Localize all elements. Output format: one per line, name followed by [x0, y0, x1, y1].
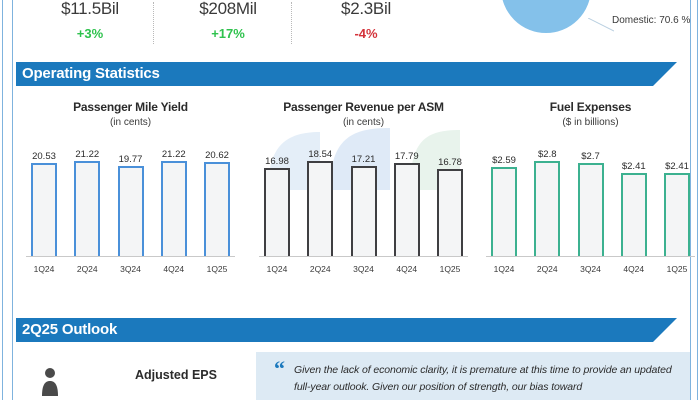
bar-rect	[394, 163, 420, 257]
bar-rect	[161, 161, 187, 257]
bar-series: 16.9818.5417.2117.7916.78	[259, 149, 468, 257]
chart-header: Fuel Expenses ($ in billions)	[478, 100, 700, 129]
banner-arrow	[653, 62, 677, 86]
bar-value-label: 20.62	[205, 150, 229, 161]
kpi-value: $208Mil	[153, 0, 303, 18]
outlook-quote-box: “ Given the lack of economic clarity, it…	[256, 352, 690, 400]
x-tick-label: 4Q24	[616, 264, 652, 274]
charts-row: Passenger Mile Yield (in cents) 20.5321.…	[13, 100, 690, 305]
x-tick-label: 1Q24	[259, 264, 295, 274]
domestic-pie-chart	[500, 0, 600, 34]
x-tick-label: 3Q24	[113, 264, 149, 274]
kpi-strip: $11.5Bil +3% $208Mil +17% $2.3Bil -4%	[13, 0, 483, 48]
bar-value-label: 17.21	[352, 154, 376, 165]
bar-value-label: 21.22	[162, 149, 186, 160]
bar-column: $2.41	[659, 149, 695, 257]
kpi-delta: +17%	[153, 24, 303, 44]
bar-rect	[264, 168, 290, 257]
bar-rect	[491, 167, 517, 257]
bar-value-label: $2.59	[492, 155, 516, 166]
quote-mark-icon: “	[274, 360, 285, 378]
bar-series: 20.5321.2219.7721.2220.62	[26, 149, 235, 257]
kpi-revenue: $11.5Bil +3%	[15, 0, 165, 44]
kpi-income: $208Mil +17%	[153, 0, 303, 44]
chart-subtitle: (in cents)	[18, 116, 243, 129]
bar-value-label: 18.54	[308, 149, 332, 160]
bar-column: 18.54	[302, 149, 338, 257]
bar-column: $2.41	[616, 149, 652, 257]
kpi-delta: +3%	[15, 24, 165, 44]
x-tick-label: 2Q24	[529, 264, 565, 274]
chart-axis-line	[486, 256, 695, 257]
chart-plot-area: 16.9818.5417.2117.7916.78 1Q242Q243Q244Q…	[251, 142, 476, 282]
chart-title: Passenger Mile Yield	[18, 100, 243, 114]
banner-title: Operating Statistics	[22, 62, 160, 86]
bar-column: 16.98	[259, 149, 295, 257]
bar-column: $2.7	[573, 149, 609, 257]
x-tick-label: 1Q24	[26, 264, 62, 274]
bar-rect	[621, 173, 647, 257]
bar-rect	[534, 161, 560, 257]
chart-fuel-expenses: Fuel Expenses ($ in billions) $2.59$2.8$…	[478, 100, 700, 305]
outlook-quote-text: Given the lack of economic clarity, it i…	[294, 362, 674, 396]
bar-column: 16.78	[432, 149, 468, 257]
bar-column: 20.62	[199, 149, 235, 257]
bar-rect	[664, 173, 690, 257]
chart-axis-line	[259, 256, 468, 257]
bar-rect	[437, 169, 463, 257]
kpi-delta: -4%	[291, 24, 441, 44]
page-border-left	[2, 0, 3, 400]
bar-value-label: 19.77	[119, 154, 143, 165]
banner-tick	[13, 62, 16, 86]
bar-series: $2.59$2.8$2.7$2.41$2.41	[486, 149, 695, 257]
chart-plot-area: 20.5321.2219.7721.2220.62 1Q242Q243Q244Q…	[18, 142, 243, 282]
infographic-page: $11.5Bil +3% $208Mil +17% $2.3Bil -4% Do…	[0, 0, 700, 400]
x-tick-label: 2Q24	[69, 264, 105, 274]
x-tick-label: 4Q24	[389, 264, 425, 274]
chart-x-tick-labels: 1Q242Q243Q244Q241Q25	[259, 264, 468, 274]
bar-column: 20.53	[26, 149, 62, 257]
bar-rect	[578, 163, 604, 257]
bar-rect	[204, 162, 230, 257]
x-tick-label: 1Q25	[659, 264, 695, 274]
bar-value-label: 20.53	[32, 151, 56, 162]
banner-arrow	[653, 318, 677, 342]
x-tick-label: 4Q24	[156, 264, 192, 274]
adjusted-eps-label: Adjusted EPS	[91, 368, 261, 382]
chart-plot-area: $2.59$2.8$2.7$2.41$2.41 1Q242Q243Q244Q24…	[478, 142, 700, 282]
bar-column: 17.79	[389, 149, 425, 257]
bar-rect	[74, 161, 100, 257]
bar-value-label: $2.8	[538, 149, 557, 160]
bar-rect	[31, 163, 57, 257]
chart-subtitle: (in cents)	[251, 116, 476, 129]
x-tick-label: 3Q24	[346, 264, 382, 274]
bar-value-label: 21.22	[75, 149, 99, 160]
chart-passenger-revenue-per-asm: Passenger Revenue per ASM (in cents) 16.…	[251, 100, 476, 305]
x-tick-label: 2Q24	[302, 264, 338, 274]
chart-subtitle: ($ in billions)	[478, 116, 700, 129]
x-tick-label: 1Q24	[486, 264, 522, 274]
pie-label-domestic: Domestic: 70.6 %	[612, 15, 690, 26]
bar-rect	[351, 166, 377, 257]
bar-value-label: $2.41	[665, 161, 689, 172]
chart-header: Passenger Revenue per ASM (in cents)	[251, 100, 476, 129]
bar-column: $2.59	[486, 149, 522, 257]
bar-column: 21.22	[156, 149, 192, 257]
bar-value-label: $2.7	[581, 151, 600, 162]
bar-value-label: 16.78	[438, 157, 462, 168]
chart-passenger-mile-yield: Passenger Mile Yield (in cents) 20.5321.…	[18, 100, 243, 305]
chart-title: Passenger Revenue per ASM	[251, 100, 476, 114]
bar-column: $2.8	[529, 149, 565, 257]
x-tick-label: 1Q25	[432, 264, 468, 274]
kpi-value: $11.5Bil	[15, 0, 165, 18]
chart-x-tick-labels: 1Q242Q243Q244Q241Q25	[26, 264, 235, 274]
chart-title: Fuel Expenses	[478, 100, 700, 114]
person-icon	[39, 366, 61, 396]
kpi-capex: $2.3Bil -4%	[291, 0, 441, 44]
bar-rect	[307, 161, 333, 257]
pie-leader-line	[588, 18, 614, 32]
chart-header: Passenger Mile Yield (in cents)	[18, 100, 243, 129]
bar-column: 17.21	[346, 149, 382, 257]
bar-value-label: $2.41	[622, 161, 646, 172]
banner-title: 2Q25 Outlook	[22, 318, 117, 342]
kpi-value: $2.3Bil	[291, 0, 441, 18]
bar-column: 19.77	[113, 149, 149, 257]
x-tick-label: 3Q24	[573, 264, 609, 274]
x-tick-label: 1Q25	[199, 264, 235, 274]
pie-slice-domestic	[500, 0, 592, 34]
banner-tick	[13, 318, 16, 342]
chart-x-tick-labels: 1Q242Q243Q244Q241Q25	[486, 264, 695, 274]
bar-rect	[118, 166, 144, 257]
bar-value-label: 16.98	[265, 156, 289, 167]
bar-value-label: 17.79	[395, 151, 419, 162]
chart-axis-line	[26, 256, 235, 257]
bar-column: 21.22	[69, 149, 105, 257]
outlook-body: Adjusted EPS “ Given the lack of economi…	[13, 348, 690, 400]
